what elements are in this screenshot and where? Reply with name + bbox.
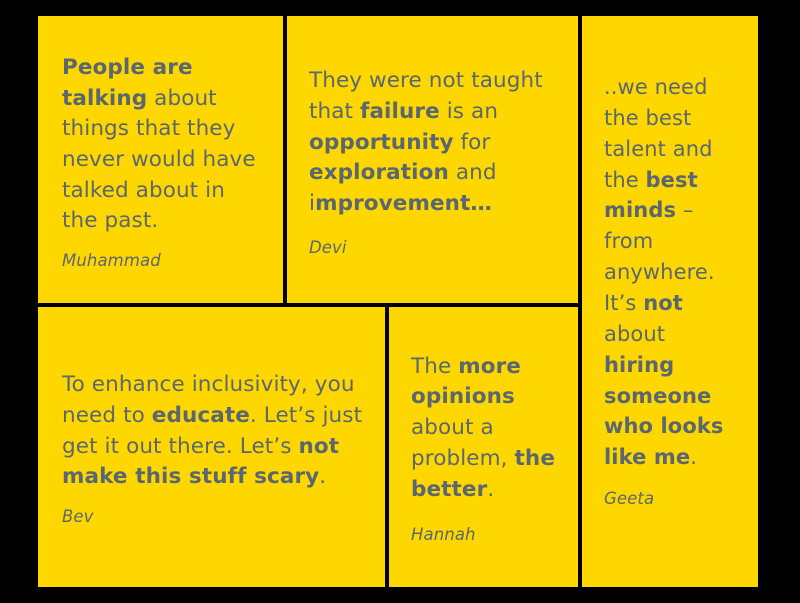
quote-text: People are talking about things that the… [62, 53, 263, 237]
quote-text: The more opinions about a problem, the b… [411, 352, 558, 506]
quote-attribution: Geeta [604, 489, 740, 508]
quote-card-bev: To enhance inclusivity, you need to educ… [38, 307, 385, 587]
quote-card-geeta: ..we need the best talent and the best m… [582, 16, 758, 587]
bottom-row: To enhance inclusivity, you need to educ… [38, 307, 578, 587]
quote-quilt: People are talking about things that the… [38, 16, 758, 587]
quote-attribution: Hannah [411, 525, 558, 544]
left-region: People are talking about things that the… [38, 16, 578, 587]
top-row: People are talking about things that the… [38, 16, 578, 303]
quote-attribution: Muhammad [62, 251, 263, 270]
quote-card-hannah: The more opinions about a problem, the b… [389, 307, 578, 587]
quote-card-devi: They were not taught that failure is an … [287, 16, 578, 303]
quote-text: ..we need the best talent and the best m… [604, 72, 740, 473]
right-column: ..we need the best talent and the best m… [582, 16, 758, 587]
quote-attribution: Bev [62, 507, 365, 526]
quote-attribution: Devi [309, 238, 556, 257]
quote-text: To enhance inclusivity, you need to educ… [62, 370, 365, 493]
quote-card-muhammad: People are talking about things that the… [38, 16, 283, 303]
quote-text: They were not taught that failure is an … [309, 66, 556, 220]
